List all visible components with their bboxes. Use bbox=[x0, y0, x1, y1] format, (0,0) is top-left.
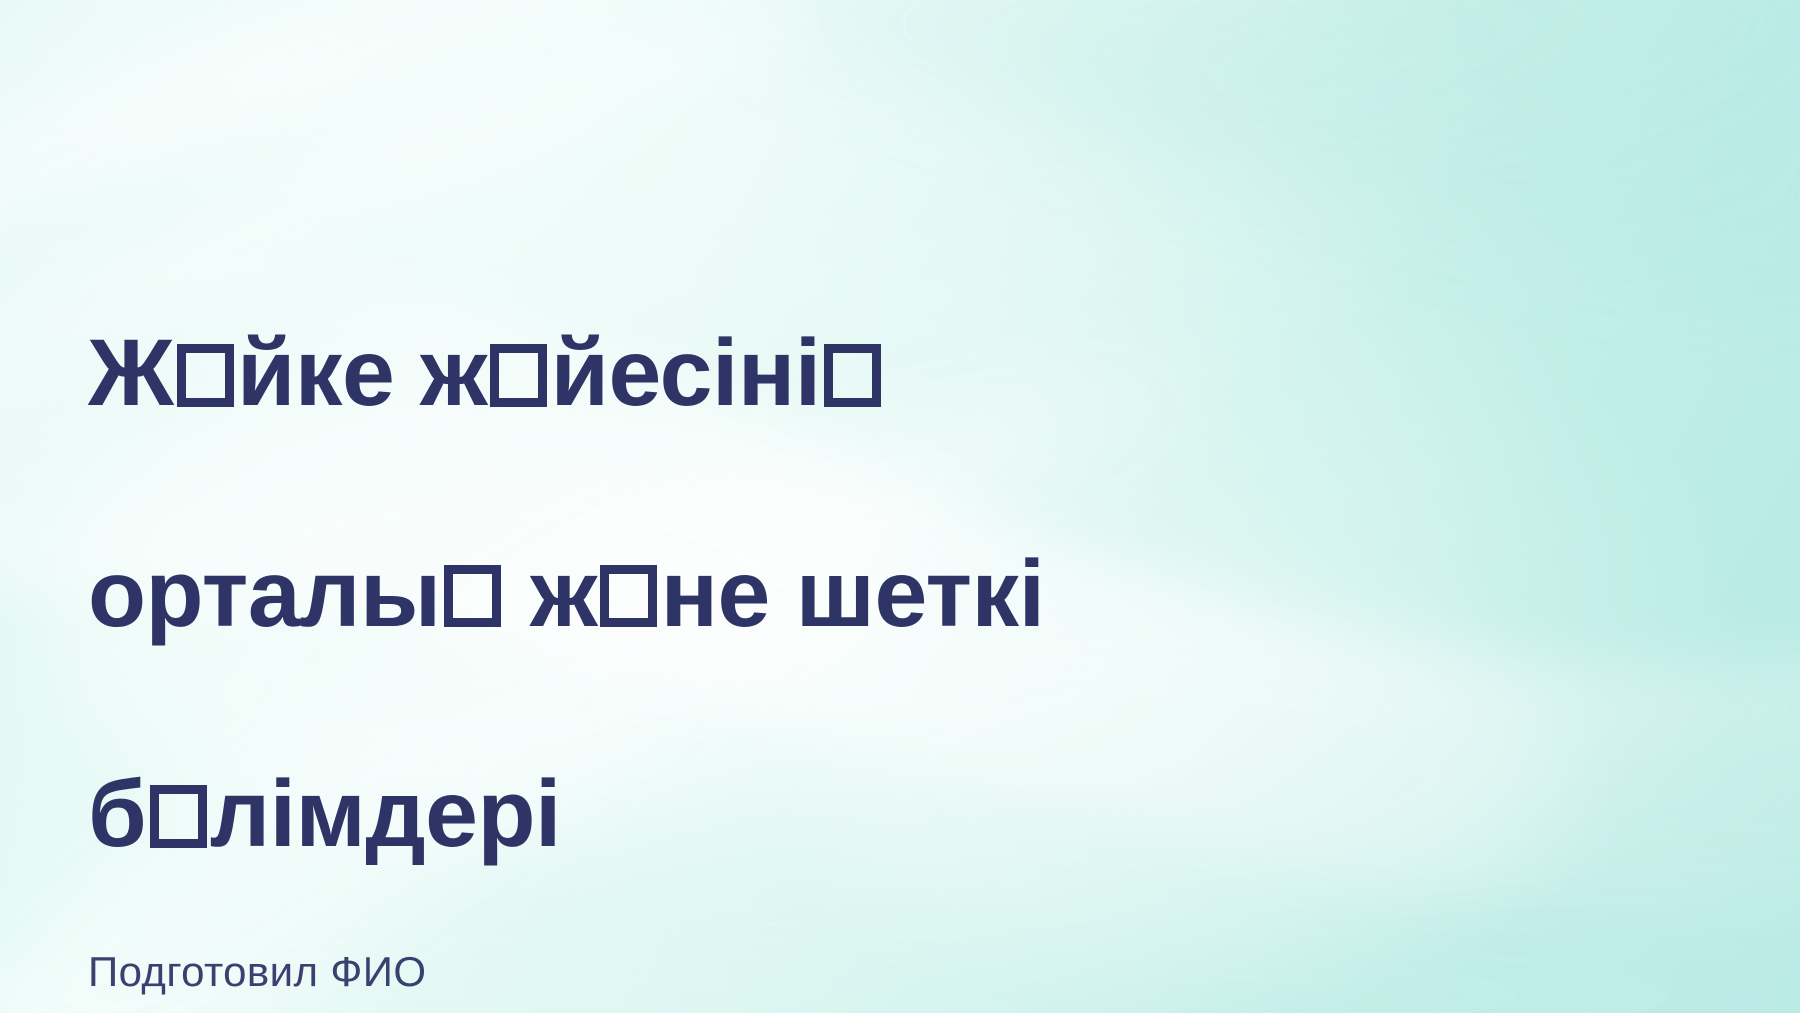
title-line-1: Жйке жйесіні bbox=[88, 320, 884, 426]
title-line-3: блімдері bbox=[88, 761, 561, 867]
title-text-segment: не шеткі bbox=[661, 541, 1045, 647]
missing-glyph-box bbox=[444, 565, 501, 628]
title-text-segment: орталы bbox=[88, 541, 441, 647]
slide-text-block: Жйке жйесіні орталы жне шеткі блімдері П… bbox=[88, 208, 1568, 998]
missing-glyph-box bbox=[824, 344, 881, 407]
title-text-segment: йке ж bbox=[237, 320, 487, 426]
title-text-segment: ж bbox=[504, 541, 597, 647]
missing-glyph-box bbox=[490, 344, 547, 407]
title-text-segment: б bbox=[88, 761, 146, 867]
presentation-title-slide: Жйке жйесіні орталы жне шеткі блімдері П… bbox=[0, 0, 1800, 1013]
page-title: Жйке жйесіні орталы жне шеткі блімдері bbox=[88, 208, 1568, 869]
title-text-segment: йесіні bbox=[551, 320, 821, 426]
missing-glyph-box bbox=[150, 785, 207, 848]
missing-glyph-box bbox=[600, 565, 657, 628]
missing-glyph-box bbox=[177, 344, 234, 407]
page-subtitle: Подготовил ФИО bbox=[88, 947, 1568, 997]
title-text-segment: Ж bbox=[88, 320, 173, 426]
title-line-2: орталы жне шеткі bbox=[88, 541, 1045, 647]
title-text-segment: лімдері bbox=[210, 761, 561, 867]
